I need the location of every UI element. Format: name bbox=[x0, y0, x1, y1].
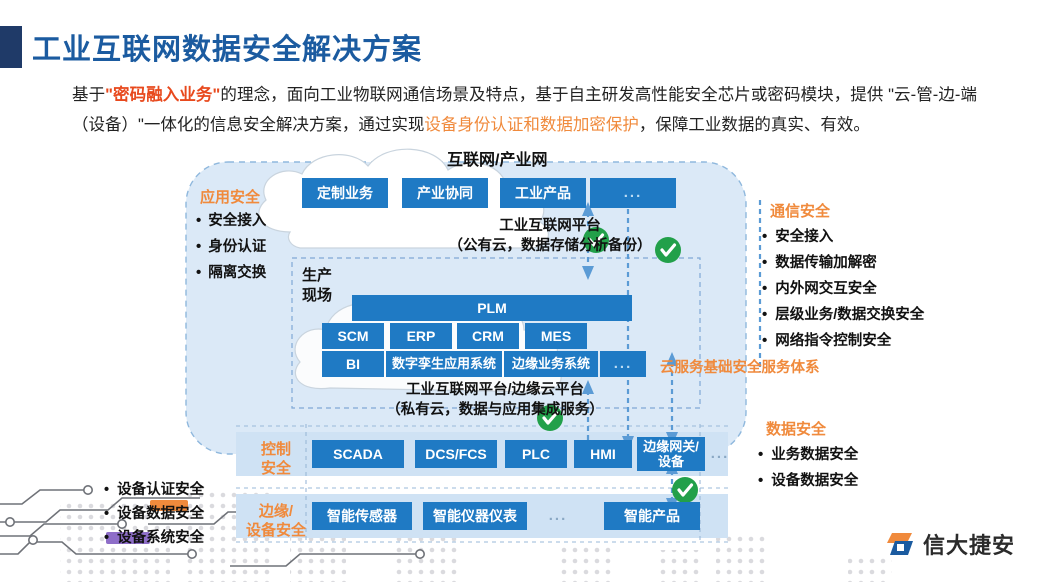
public-cloud-caption-2: （公有云，数据存储分析备份） bbox=[400, 236, 700, 256]
comm-security-item-4: 网络指令控制安全 bbox=[762, 328, 924, 354]
data-security-list: 业务数据安全 设备数据安全 bbox=[758, 442, 858, 494]
private-cloud-caption-2: （私有云，数据与应用集成服务） bbox=[330, 400, 660, 420]
box-edge-business[interactable]: 边缘业务系统 bbox=[504, 351, 598, 377]
intro-text-3: ，保障工业数据的真实、有效。 bbox=[639, 116, 870, 134]
data-security-item-1: 设备数据安全 bbox=[758, 468, 858, 494]
data-security-heading: 数据安全 bbox=[766, 418, 826, 439]
edge-row-label: 边缘/ 设备安全 bbox=[240, 502, 312, 540]
device-security-list: 设备认证安全 设备数据安全 设备系统安全 bbox=[104, 478, 204, 550]
box-plm[interactable]: PLM bbox=[352, 295, 632, 321]
comm-security-list: 安全接入 数据传输加解密 内外网交互安全 层级业务/数据交换安全 网络指令控制安… bbox=[762, 224, 924, 354]
logo-text: 信大捷安 bbox=[923, 528, 1015, 560]
private-cloud-caption-1: 工业互联网平台/边缘云平台 bbox=[330, 380, 660, 400]
box-scada[interactable]: SCADA bbox=[312, 440, 404, 468]
box-edge-more[interactable]: ... bbox=[538, 502, 578, 530]
box-control-more[interactable]: ... bbox=[706, 440, 734, 468]
device-security-item-1: 设备数据安全 bbox=[104, 502, 204, 526]
box-scm[interactable]: SCM bbox=[322, 323, 384, 349]
app-security-heading: 应用安全 bbox=[200, 186, 260, 207]
box-public-1[interactable]: 定制业务 bbox=[302, 178, 388, 208]
edge-row-label-2: 设备安全 bbox=[240, 521, 312, 540]
logo-mark-icon bbox=[886, 530, 916, 558]
company-logo: 信大捷安 bbox=[886, 528, 1015, 560]
app-security-list: 安全接入 身份认证 隔离交换 bbox=[196, 208, 266, 286]
box-edge-gateway[interactable]: 边缘网关/设备 bbox=[637, 437, 705, 471]
box-mes[interactable]: MES bbox=[525, 323, 587, 349]
intro-paragraph: 基于"密码融入业务"的理念，面向工业物联网通信场景及特点，基于自主研发高性能安全… bbox=[72, 80, 977, 140]
control-row-label-1: 控制 bbox=[248, 440, 304, 459]
app-security-item-2: 隔离交换 bbox=[196, 260, 266, 286]
intro-highlight-1: "密码融入业务" bbox=[105, 86, 220, 104]
box-dcs-fcs[interactable]: DCS/FCS bbox=[415, 440, 497, 468]
edge-row-label-1: 边缘/ bbox=[240, 502, 312, 521]
box-public-4[interactable]: ... bbox=[590, 178, 676, 208]
production-label-2: 现场 bbox=[302, 286, 332, 305]
network-title: 互联网/产业网 bbox=[447, 146, 547, 170]
check-icon bbox=[672, 477, 698, 503]
box-smart-sensor[interactable]: 智能传感器 bbox=[312, 502, 412, 530]
comm-security-item-3: 层级业务/数据交换安全 bbox=[762, 302, 924, 328]
box-digital-twin[interactable]: 数字孪生应用系统 bbox=[386, 351, 502, 377]
intro-highlight-2: 设备身份认证和数据加密保护 bbox=[424, 116, 639, 134]
device-security-item-2: 设备系统安全 bbox=[104, 526, 204, 550]
box-private-more[interactable]: ... bbox=[600, 351, 646, 377]
comm-security-item-1: 数据传输加解密 bbox=[762, 250, 924, 276]
intro-text-1: 基于 bbox=[72, 86, 105, 104]
title-accent-bar bbox=[0, 26, 22, 68]
app-security-item-1: 身份认证 bbox=[196, 234, 266, 260]
control-row-label: 控制 安全 bbox=[248, 440, 304, 478]
box-hmi[interactable]: HMI bbox=[574, 440, 632, 468]
comm-security-heading: 通信安全 bbox=[770, 200, 830, 221]
app-security-item-0: 安全接入 bbox=[196, 208, 266, 234]
box-public-3[interactable]: 工业产品 bbox=[500, 178, 586, 208]
data-security-item-0: 业务数据安全 bbox=[758, 442, 858, 468]
box-plc[interactable]: PLC bbox=[505, 440, 567, 468]
box-bi[interactable]: BI bbox=[322, 351, 384, 377]
box-public-2[interactable]: 产业协同 bbox=[402, 178, 488, 208]
comm-security-item-0: 安全接入 bbox=[762, 224, 924, 250]
production-label-1: 生产 bbox=[302, 266, 332, 285]
box-crm[interactable]: CRM bbox=[457, 323, 519, 349]
comm-security-item-2: 内外网交互安全 bbox=[762, 276, 924, 302]
device-security-item-0: 设备认证安全 bbox=[104, 478, 204, 502]
box-smart-instrument[interactable]: 智能仪器仪表 bbox=[423, 502, 527, 530]
cloud-service-label: 云服务基础安全服务体系 bbox=[660, 356, 820, 377]
page-title: 工业互联网数据安全解决方案 bbox=[32, 26, 422, 68]
box-erp[interactable]: ERP bbox=[390, 323, 452, 349]
box-smart-product[interactable]: 智能产品 bbox=[604, 502, 700, 530]
public-cloud-caption-1: 工业互联网平台 bbox=[400, 216, 700, 236]
control-row-label-2: 安全 bbox=[248, 459, 304, 478]
